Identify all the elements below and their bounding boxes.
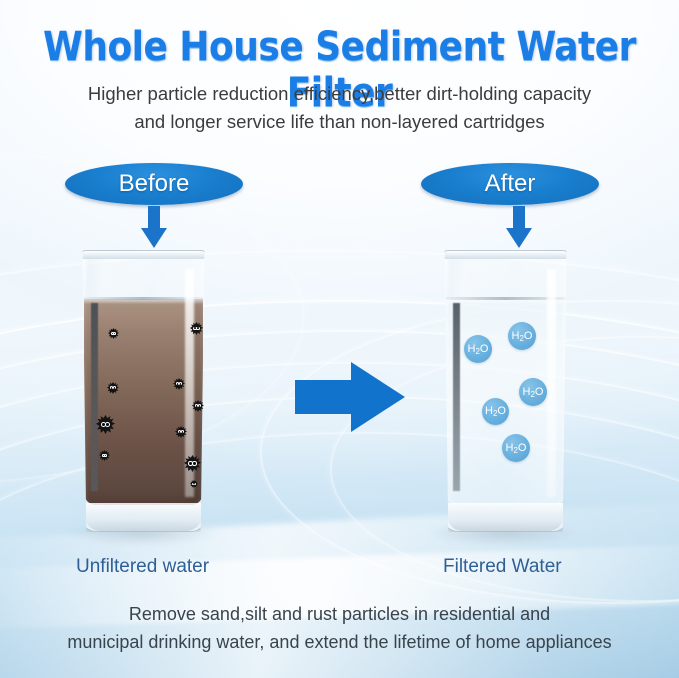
- sediment-particle: [184, 455, 201, 472]
- arrow-tail: [295, 380, 357, 414]
- sediment-particle: [190, 480, 198, 488]
- arrow-stem: [148, 206, 160, 230]
- sediment-particle: [173, 378, 185, 390]
- sediment-particle: [192, 400, 204, 412]
- glass-light-reflection: [547, 269, 556, 497]
- arrow-stem: [513, 206, 525, 230]
- particle-eye: [113, 332, 116, 335]
- glass-body: [442, 250, 569, 532]
- unfiltered-water-glass: [80, 250, 205, 530]
- sediment-particle: [190, 322, 203, 335]
- glass-base: [448, 503, 563, 531]
- h2o-molecule-badge: H2O: [464, 335, 492, 363]
- arrow-tip: [351, 362, 405, 432]
- glass-base: [86, 503, 201, 531]
- h2o-molecule-badge: H2O: [502, 434, 530, 462]
- unfiltered-caption: Unfiltered water: [76, 556, 209, 578]
- h2o-molecule-badge: H2O: [482, 398, 509, 425]
- particle-eye: [196, 327, 199, 330]
- arrow-head: [141, 228, 167, 248]
- filtered-water-glass: H2OH2OH2OH2OH2O: [442, 250, 567, 530]
- page-subtitle: Higher particle reduction efficiency,bet…: [0, 80, 679, 136]
- h2o-molecule-badge: H2O: [508, 322, 536, 350]
- footer-description: Remove sand,silt and rust particles in r…: [0, 600, 679, 656]
- arrow-head: [506, 228, 532, 248]
- footer-line-2: municipal drinking water, and extend the…: [0, 628, 679, 656]
- glass-body: [80, 250, 207, 532]
- glass-rim: [80, 251, 207, 259]
- particle-eye: [194, 483, 196, 485]
- subtitle-line-1: Higher particle reduction efficiency,bet…: [0, 80, 679, 108]
- before-badge: Before: [65, 163, 243, 205]
- glass-rim: [442, 251, 569, 259]
- subtitle-line-2: and longer service life than non-layered…: [0, 108, 679, 136]
- glass-dark-reflection: [453, 303, 460, 491]
- sediment-particle: [107, 382, 119, 394]
- particle-eye: [104, 454, 107, 457]
- glass-dark-reflection: [91, 303, 98, 491]
- footer-line-1: Remove sand,silt and rust particles in r…: [0, 600, 679, 628]
- arrow-down-icon: [141, 206, 167, 248]
- sediment-particle: [99, 450, 110, 461]
- sediment-particle: [108, 328, 119, 339]
- after-badge: After: [421, 163, 599, 205]
- particle-eye: [105, 422, 110, 427]
- arrow-down-icon: [506, 206, 532, 248]
- sediment-particle: [96, 415, 115, 434]
- h2o-molecule-badge: H2O: [519, 378, 547, 406]
- particle-eye: [192, 461, 196, 465]
- sediment-particle: [175, 426, 187, 438]
- arrow-right-icon: [295, 362, 405, 432]
- filtered-caption: Filtered Water: [443, 556, 562, 578]
- infographic-page: Whole House Sediment Water Filter Higher…: [0, 0, 679, 678]
